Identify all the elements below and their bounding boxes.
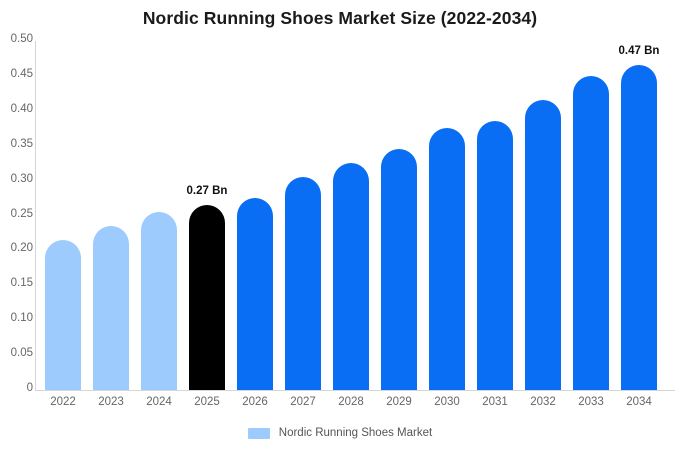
y-axis-tick-label: 0.25: [3, 208, 33, 220]
chart-title: Nordic Running Shoes Market Size (2022-2…: [0, 8, 680, 29]
x-axis-tick-label: 2030: [423, 396, 471, 408]
legend-label: Nordic Running Shoes Market: [279, 427, 432, 439]
bar-2033[interactable]: [573, 76, 609, 390]
x-axis-tick-label: 2033: [567, 396, 615, 408]
y-axis-tick-label: 0.35: [3, 138, 33, 150]
bar-2030[interactable]: [429, 128, 465, 390]
x-axis-line: [35, 390, 675, 391]
y-axis-tick-label: 0.45: [3, 68, 33, 80]
x-axis-tick-label: 2027: [279, 396, 327, 408]
bar-2022[interactable]: [45, 240, 81, 390]
x-axis-tick-label: 2025: [183, 396, 231, 408]
chart-legend: Nordic Running Shoes Market: [0, 427, 680, 439]
x-axis-tick-label: 2024: [135, 396, 183, 408]
bar-2027[interactable]: [285, 177, 321, 390]
bar-value-label-2025: 0.27 Bn: [162, 185, 252, 197]
x-axis-tick-label: 2031: [471, 396, 519, 408]
x-axis-tick-label: 2028: [327, 396, 375, 408]
y-axis-tick-label: 0.20: [3, 242, 33, 254]
bar-2024[interactable]: [141, 212, 177, 390]
y-axis-tick-label: 0.40: [3, 103, 33, 115]
bar-2023[interactable]: [93, 226, 129, 390]
bar-2029[interactable]: [381, 149, 417, 390]
x-axis-tick-label: 2022: [39, 396, 87, 408]
x-axis-tick-label: 2026: [231, 396, 279, 408]
y-axis-tick-label: 0.15: [3, 277, 33, 289]
bar-2025[interactable]: [189, 205, 225, 390]
bar-2032[interactable]: [525, 100, 561, 390]
y-axis-tick-label: 0.30: [3, 173, 33, 185]
bar-2026[interactable]: [237, 198, 273, 390]
bar-value-label-2034: 0.47 Bn: [594, 45, 680, 57]
y-axis-tick-label: 0.10: [3, 312, 33, 324]
y-axis-tick-label: 0: [3, 382, 33, 394]
legend-swatch: [248, 428, 270, 439]
x-axis-tick-label: 2032: [519, 396, 567, 408]
chart-container: Nordic Running Shoes Market Size (2022-2…: [0, 0, 680, 450]
x-axis-tick-label: 2023: [87, 396, 135, 408]
y-axis-tick-label: 0.05: [3, 347, 33, 359]
x-axis-tick-label: 2034: [615, 396, 663, 408]
bar-2034[interactable]: [621, 65, 657, 390]
bar-2031[interactable]: [477, 121, 513, 390]
y-axis-tick-label: 0.50: [3, 33, 33, 45]
bar-2028[interactable]: [333, 163, 369, 390]
y-axis-line: [35, 41, 36, 390]
x-axis-tick-label: 2029: [375, 396, 423, 408]
